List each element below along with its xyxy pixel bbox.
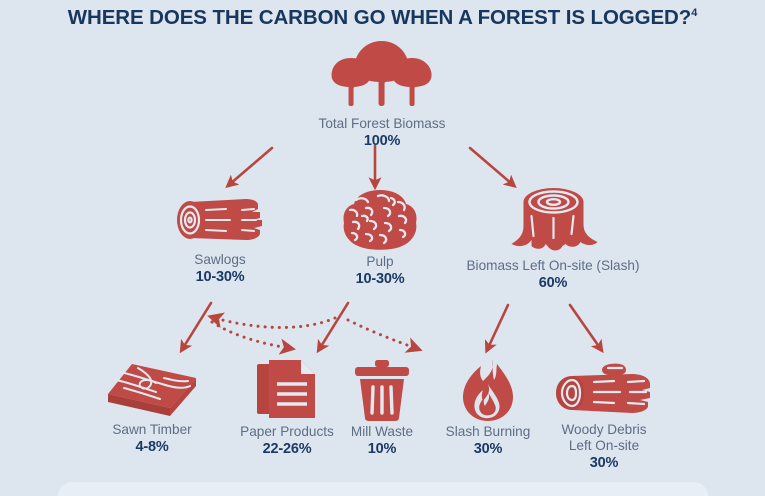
node-label: Sawlogs: [168, 252, 272, 268]
node-label: Pulp: [340, 254, 420, 270]
arrow-slash-to-slash-burning: [488, 305, 508, 348]
arrow-pulp-to-sawn-area-dotted: [215, 318, 335, 327]
arrow-sawlogs-to-sawn-timber: [183, 303, 211, 348]
log-icon: [168, 188, 272, 250]
node-label: Sawn Timber: [97, 422, 207, 438]
page-title: WHERE DOES THE CARBON GO WHEN A FOREST I…: [0, 6, 765, 30]
node-label: Paper Products: [232, 424, 342, 440]
footnote-marker: 4: [691, 7, 697, 19]
node-biomass-left-on-site: Biomass Left On-site (Slash) 60%: [466, 176, 639, 292]
log-pile-icon: [552, 358, 656, 420]
node-value: 30%: [549, 455, 659, 472]
paper-documents-icon: [251, 358, 323, 422]
infographic-canvas: WHERE DOES THE CARBON GO WHEN A FOREST I…: [0, 0, 765, 496]
node-value: 10-30%: [340, 271, 420, 288]
node-value: 10-30%: [168, 269, 272, 286]
node-value: 30%: [433, 441, 543, 458]
bottom-card-edge: [58, 482, 708, 496]
timber-plank-icon: [104, 358, 200, 420]
node-value: 22-26%: [232, 441, 342, 458]
node-label: Mill Waste: [327, 424, 437, 440]
page-title-text: WHERE DOES THE CARBON GO WHEN A FOREST I…: [68, 6, 691, 29]
node-value: 60%: [466, 275, 639, 292]
node-value: 10%: [327, 441, 437, 458]
arrow-slash-to-woody-debris: [570, 305, 600, 348]
arrow-pulp-to-mill-waste-dotted: [348, 320, 415, 348]
node-total-forest-biomass: Total Forest Biomass 100%: [319, 36, 446, 150]
node-value: 4-8%: [97, 439, 207, 456]
node-sawlogs: Sawlogs 10-30%: [168, 188, 272, 286]
node-woody-debris: Woody Debris Left On-site 30%: [549, 358, 659, 472]
node-mill-waste: Mill Waste 10%: [327, 358, 437, 458]
flame-icon: [459, 358, 517, 422]
node-slash-burning: Slash Burning 30%: [433, 358, 543, 458]
node-label: Biomass Left On-site (Slash): [466, 258, 639, 274]
arrow-pulp-to-paper-products: [320, 303, 348, 348]
trash-bin-icon: [351, 358, 413, 422]
node-sawn-timber: Sawn Timber 4-8%: [97, 358, 207, 456]
arrow-sawlogs-to-paper-products-dotted: [212, 322, 288, 348]
wood-chips-icon: [340, 188, 420, 252]
node-label: Woody Debris Left On-site: [549, 422, 659, 454]
node-value: 100%: [319, 133, 446, 150]
node-paper-products: Paper Products 22-26%: [232, 358, 342, 458]
node-label: Total Forest Biomass: [319, 116, 446, 132]
arrow-total-to-sawlogs: [230, 148, 272, 184]
node-pulp: Pulp 10-30%: [340, 188, 420, 288]
trees-icon: [327, 36, 437, 114]
tree-stump-icon: [507, 176, 599, 256]
node-label: Slash Burning: [433, 424, 543, 440]
